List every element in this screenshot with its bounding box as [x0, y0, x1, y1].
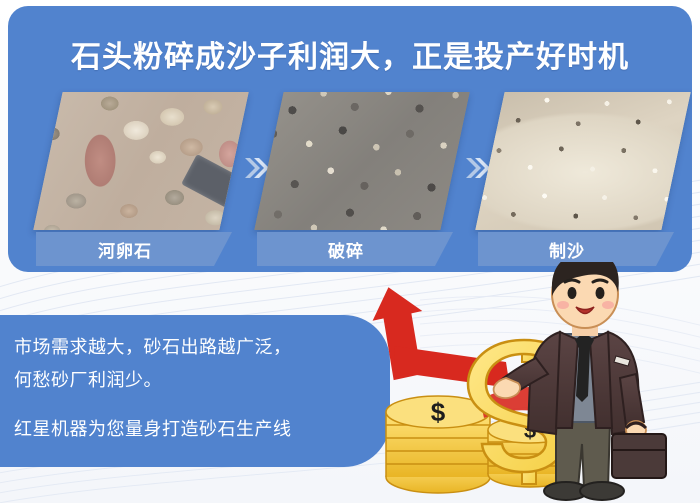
- info-line-2: 何愁砂厂利润少。: [14, 366, 162, 392]
- process-card-2[interactable]: 破碎: [257, 92, 465, 272]
- process-card-2-label: 破碎: [257, 232, 435, 266]
- process-card-2-label-bar: 破碎: [257, 232, 453, 266]
- promo-banner: 石头粉碎成沙子利润大，正是投产好时机 河卵石: [0, 0, 700, 503]
- process-card-1-label-bar: 河卵石: [36, 232, 232, 266]
- process-card-1-label: 河卵石: [36, 232, 214, 266]
- hero-panel: 石头粉碎成沙子利润大，正是投产好时机 河卵石: [8, 6, 692, 272]
- manufactured-sand-photo: [475, 92, 690, 230]
- crushed-gravel-photo-frame: [254, 92, 469, 230]
- page-title: 石头粉碎成沙子利润大，正是投产好时机: [8, 32, 692, 76]
- info-panel: 市场需求越大，砂石出路越广泛， 何愁砂厂利润少。 红星机器为您量身打造砂石生产线: [0, 315, 390, 467]
- process-card-list: 河卵石 破碎: [8, 92, 692, 272]
- process-card-3-label: 制沙: [478, 232, 656, 266]
- info-line-1: 市场需求越大，砂石出路越广泛，: [14, 333, 292, 359]
- river-pebbles-photo: [33, 92, 248, 230]
- manufactured-sand-photo-frame: [475, 92, 690, 230]
- coin-stack-icon: $: [386, 396, 490, 493]
- illustration-group: $ $: [360, 262, 700, 503]
- process-card-3[interactable]: 制沙: [478, 92, 686, 272]
- process-card-3-label-bar: 制沙: [478, 232, 674, 266]
- process-card-1[interactable]: 河卵石: [36, 92, 244, 272]
- info-line-3: 红星机器为您量身打造砂石生产线: [14, 415, 292, 441]
- svg-text:$: $: [431, 397, 446, 427]
- river-pebbles-photo-frame: [33, 92, 248, 230]
- crushed-gravel-photo: [254, 92, 469, 230]
